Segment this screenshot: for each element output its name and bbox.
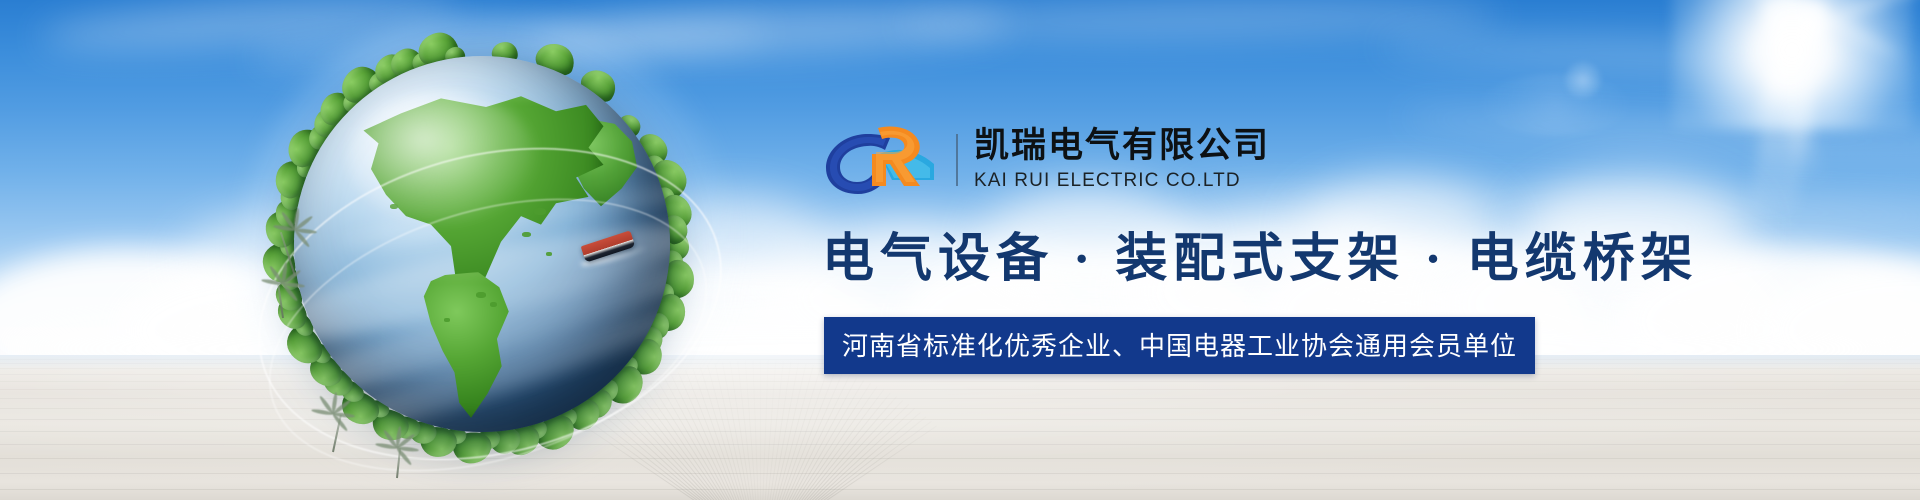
floor-joint [0, 473, 1920, 474]
cirrus-cloud-icon [1380, 30, 1920, 80]
brand-name-block: 凯瑞电气有限公司 KAI RUI ELECTRIC CO.LTD [974, 126, 1270, 194]
cirrus-cloud-icon [900, 0, 1501, 43]
island-fleck-icon [390, 204, 398, 209]
banner-content: 凯瑞电气有限公司 KAI RUI ELECTRIC CO.LTD 电气设备 · … [822, 120, 1602, 374]
status-badge: 河南省标准化优秀企业、中国电器工业协会通用会员单位 [824, 317, 1535, 374]
island-fleck-icon [490, 302, 497, 307]
island-fleck-icon [546, 252, 552, 256]
green-earth-globe-icon [272, 34, 704, 466]
floor-joint [760, 360, 761, 500]
page-title: 电气设备 · 装配式支架 · 电缆桥架 [822, 216, 1602, 291]
floor-joint [0, 489, 1920, 490]
company-name-en: KAI RUI ELECTRIC CO.LTD [974, 169, 1270, 194]
island-fleck-icon [444, 318, 450, 322]
company-name-cn: 凯瑞电气有限公司 [974, 126, 1270, 165]
island-fleck-icon [476, 292, 486, 298]
globe-sphere [294, 56, 670, 432]
cr-monogram-icon [822, 124, 946, 196]
brand-divider [956, 134, 958, 186]
brand-lockup: 凯瑞电气有限公司 KAI RUI ELECTRIC CO.LTD [822, 120, 1602, 200]
hero-banner: 凯瑞电气有限公司 KAI RUI ELECTRIC CO.LTD 电气设备 · … [0, 0, 1920, 500]
island-fleck-icon [522, 232, 531, 237]
island-fleck-icon [534, 208, 546, 215]
